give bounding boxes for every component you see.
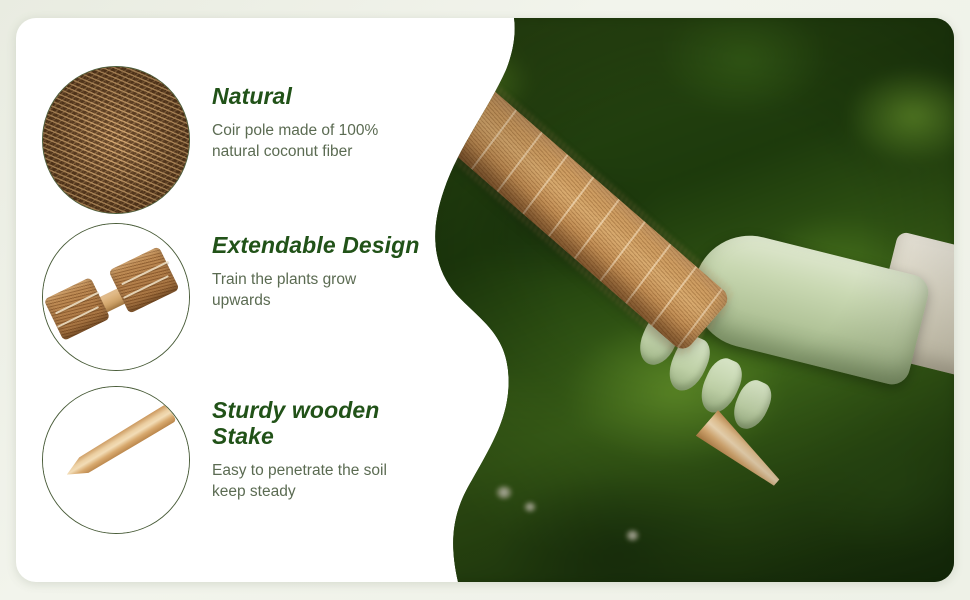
feature-description: Easy to penetrate the soil keep steady — [212, 460, 417, 502]
extendable-pole-image — [42, 223, 190, 371]
wooden-stake-image — [42, 386, 190, 534]
feature-item-extendable: Extendable Design Train the plants grow … — [42, 223, 442, 373]
feature-text-block: Natural Coir pole made of 100% natural c… — [212, 66, 417, 162]
feature-title: Natural — [212, 84, 417, 110]
feature-item-stake: Sturdy wooden Stake Easy to penetrate th… — [42, 386, 442, 536]
stake-tip — [62, 404, 177, 484]
feature-list: Natural Coir pole made of 100% natural c… — [16, 18, 446, 582]
flower-blur — [524, 502, 536, 512]
coir-fiber-texture — [43, 67, 189, 213]
feature-title: Sturdy wooden Stake — [212, 398, 442, 450]
flower-blur — [496, 486, 512, 499]
extendable-pole-scene — [43, 224, 189, 370]
coir-segment-left — [44, 277, 111, 341]
product-photo — [396, 18, 954, 582]
infographic-page: Natural Coir pole made of 100% natural c… — [0, 0, 970, 600]
feature-text-block: Sturdy wooden Stake Easy to penetrate th… — [212, 386, 442, 502]
feature-text-block: Extendable Design Train the plants grow … — [212, 223, 419, 311]
wooden-stake-scene — [43, 387, 189, 533]
feature-title: Extendable Design — [212, 233, 419, 259]
feature-description: Coir pole made of 100% natural coconut f… — [212, 120, 417, 162]
feature-item-natural: Natural Coir pole made of 100% natural c… — [42, 66, 442, 216]
feature-description: Train the plants grow upwards — [212, 269, 417, 311]
flower-blur — [626, 530, 639, 541]
coir-fiber-image — [42, 66, 190, 214]
content-card: Natural Coir pole made of 100% natural c… — [16, 18, 954, 582]
